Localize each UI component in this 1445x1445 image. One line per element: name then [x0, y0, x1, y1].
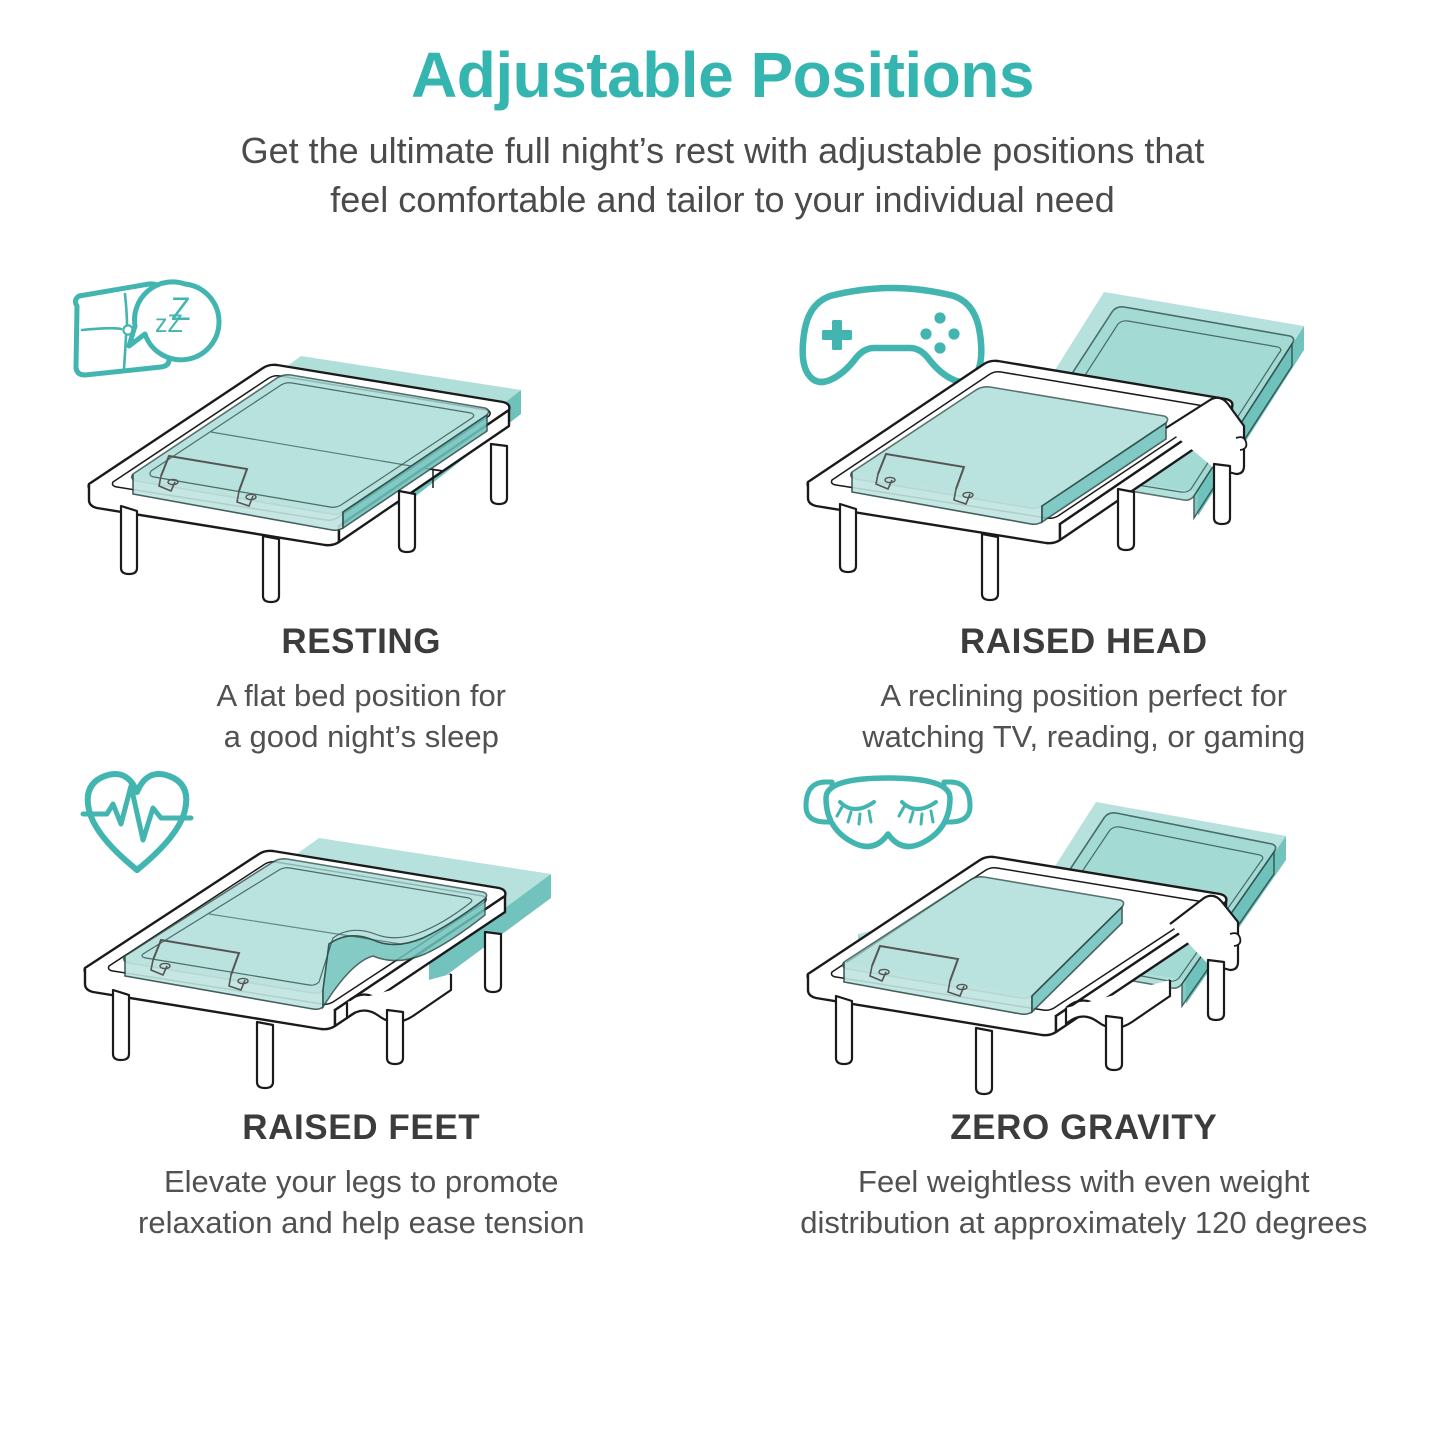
svg-text:Z: Z: [171, 291, 191, 327]
bed-flat: [89, 356, 521, 602]
panel-desc-raised-feet: Elevate your legs to promote relaxation …: [51, 1162, 671, 1244]
panel-raised-head: RAISED HEAD A reclining position perfect…: [723, 268, 1445, 758]
panel-desc-line-2: watching TV, reading, or gaming: [774, 717, 1394, 758]
illustration-zero-gravity-bed: [774, 758, 1394, 1098]
bed-raised-feet: [85, 838, 551, 1088]
header: Adjustable Positions Get the ultimate fu…: [0, 0, 1445, 224]
panel-title-raised-feet: RAISED FEET: [242, 1108, 480, 1148]
panel-desc-line-1: A flat bed position for: [51, 676, 671, 717]
heart-pulse-icon: [83, 774, 191, 870]
panel-desc-line-1: Elevate your legs to promote: [51, 1162, 671, 1203]
panel-desc-line-2: a good night’s sleep: [51, 717, 671, 758]
panel-desc-raised-head: A reclining position perfect for watchin…: [774, 676, 1394, 758]
panel-desc-zero-gravity: Feel weightless with even weight distrib…: [774, 1162, 1394, 1244]
panel-desc-resting: A flat bed position for a good night’s s…: [51, 676, 671, 758]
panel-title-raised-head: RAISED HEAD: [960, 622, 1208, 662]
panel-zero-gravity: ZERO GRAVITY Feel weightless with even w…: [723, 758, 1445, 1244]
panel-title-resting: RESTING: [281, 622, 441, 662]
illustration-resting-bed: zZ Z: [51, 268, 671, 608]
panel-desc-line-2: relaxation and help ease tension: [51, 1203, 671, 1244]
panel-resting: zZ Z: [0, 268, 723, 758]
pillow-zz-icon: zZ Z: [76, 282, 220, 375]
gamepad-icon: [802, 288, 981, 382]
adjustable-positions-infographic: Adjustable Positions Get the ultimate fu…: [0, 0, 1445, 1445]
panel-desc-line-1: Feel weightless with even weight: [774, 1162, 1394, 1203]
panel-desc-line-2: distribution at approximately 120 degree…: [774, 1203, 1394, 1244]
panel-title-zero-gravity: ZERO GRAVITY: [950, 1108, 1217, 1148]
panel-desc-line-1: A reclining position perfect for: [774, 676, 1394, 717]
page-subtitle-line-1: Get the ultimate full night’s rest with …: [143, 127, 1303, 176]
page-subtitle: Get the ultimate full night’s rest with …: [143, 127, 1303, 224]
positions-grid: zZ Z: [0, 268, 1445, 1244]
panel-raised-feet: RAISED FEET Elevate your legs to promote…: [0, 758, 723, 1244]
bed-raised-head: [807, 292, 1303, 600]
page-title: Adjustable Positions: [0, 42, 1445, 109]
illustration-raised-feet-bed: [51, 758, 671, 1098]
sleep-mask-icon: [806, 778, 970, 847]
illustration-raised-head-bed: [774, 268, 1394, 608]
page-subtitle-line-2: feel comfortable and tailor to your indi…: [143, 176, 1303, 225]
